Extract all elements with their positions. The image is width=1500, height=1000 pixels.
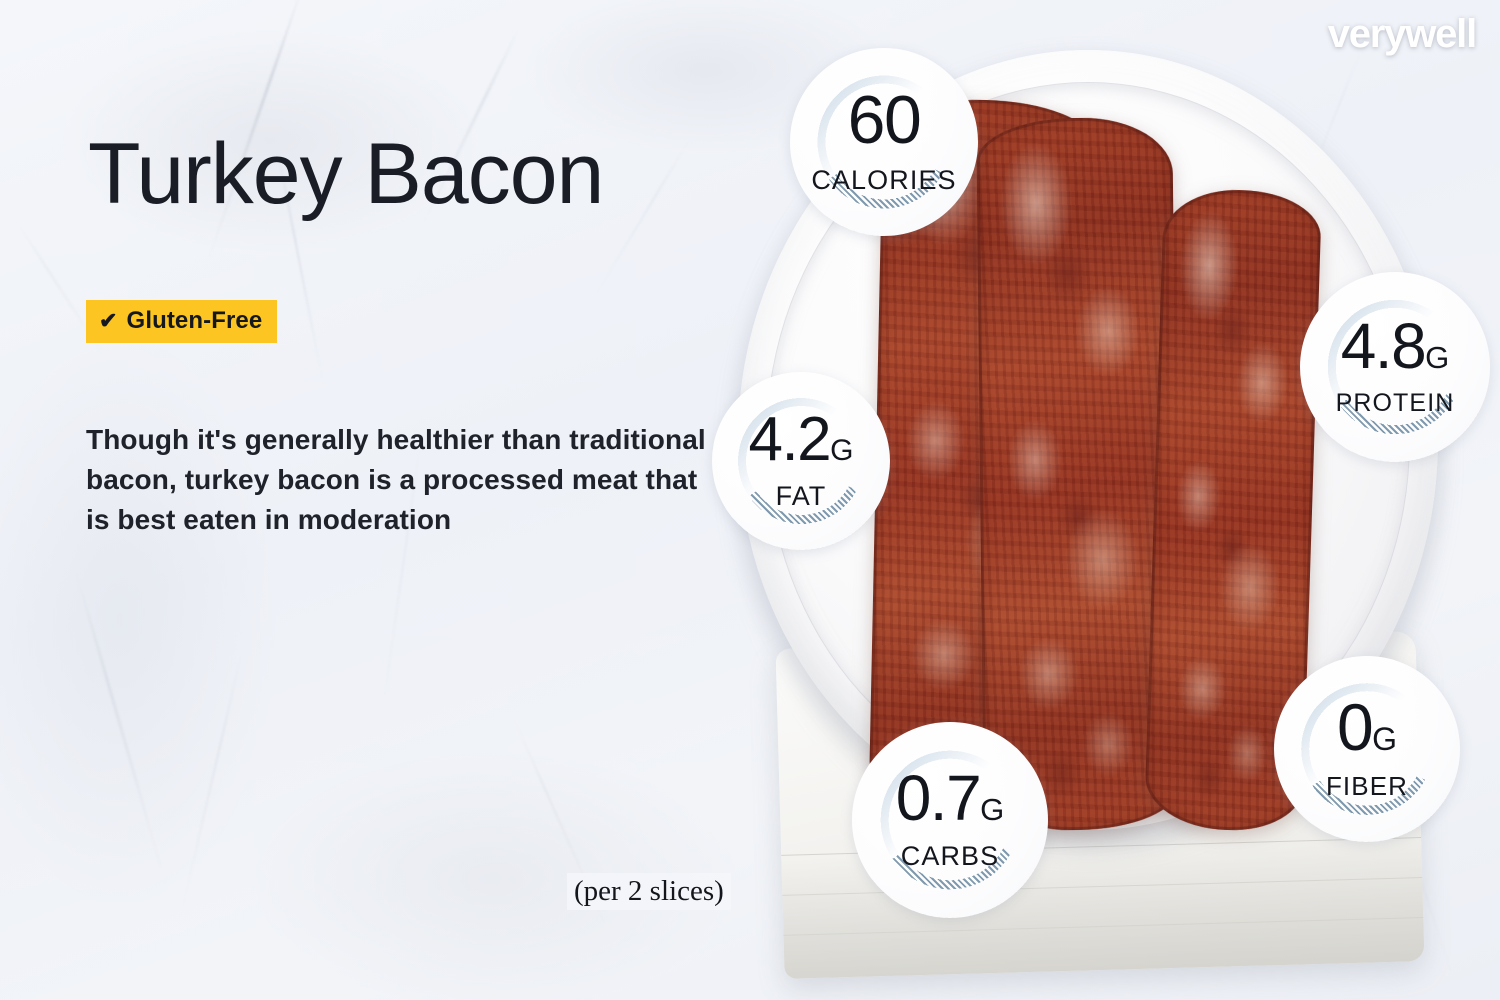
marble-vein	[11, 214, 111, 366]
nutrient-badge-protein: 4.8 G PROTEIN	[1300, 272, 1490, 462]
nutrient-badge-calories: 60 CALORIES	[790, 48, 978, 236]
badge-number: 0.7	[896, 768, 980, 829]
nutrient-badge-fat: 4.2 G FAT	[712, 372, 890, 550]
badge-content: 60 CALORIES	[790, 48, 978, 236]
badge-value-row: 60	[848, 88, 921, 153]
badge-content: 0 G FIBER	[1274, 656, 1460, 842]
badge-value-row: 4.8 G	[1341, 316, 1450, 377]
badge-unit: G	[830, 437, 853, 466]
badge-value-row: 4.2 G	[748, 410, 853, 470]
nutrient-badge-fiber: 0 G FIBER	[1274, 656, 1460, 842]
marble-vein	[73, 566, 169, 894]
description-text: Though it's generally healthier than tra…	[86, 420, 706, 539]
badge-label: FAT	[776, 481, 827, 512]
badge-content: 0.7 G CARBS	[852, 722, 1048, 918]
marble-vein	[589, 134, 694, 306]
badge-number: 60	[848, 88, 921, 153]
badge-unit: G	[1372, 724, 1397, 755]
gluten-free-badge: ✔ Gluten-Free	[86, 300, 277, 343]
gluten-free-label: Gluten-Free	[127, 307, 263, 335]
badge-label: PROTEIN	[1336, 389, 1455, 418]
badge-unit: G	[980, 795, 1004, 825]
marble-vein	[177, 643, 244, 926]
badge-label: CARBS	[901, 841, 1000, 872]
checkmark-icon: ✔	[99, 310, 118, 332]
badge-number: 4.8	[1341, 316, 1425, 377]
nutrient-badge-carbs: 0.7 G CARBS	[852, 722, 1048, 918]
serving-note: (per 2 slices)	[567, 873, 731, 910]
infographic-canvas: verywell Turkey Bacon ✔ Gluten-Free Thou…	[0, 0, 1500, 1000]
page-title: Turkey Bacon	[88, 129, 603, 220]
badge-unit: G	[1425, 343, 1449, 373]
verywell-logo[interactable]: verywell	[1328, 12, 1476, 57]
badge-label: FIBER	[1326, 771, 1408, 802]
badge-content: 4.2 G FAT	[712, 372, 890, 550]
badge-label: CALORIES	[811, 165, 956, 196]
badge-number: 0	[1337, 696, 1372, 759]
badge-number: 4.2	[748, 410, 830, 470]
badge-content: 4.8 G PROTEIN	[1300, 272, 1490, 462]
badge-value-row: 0.7 G	[896, 768, 1005, 829]
badge-value-row: 0 G	[1337, 696, 1397, 759]
